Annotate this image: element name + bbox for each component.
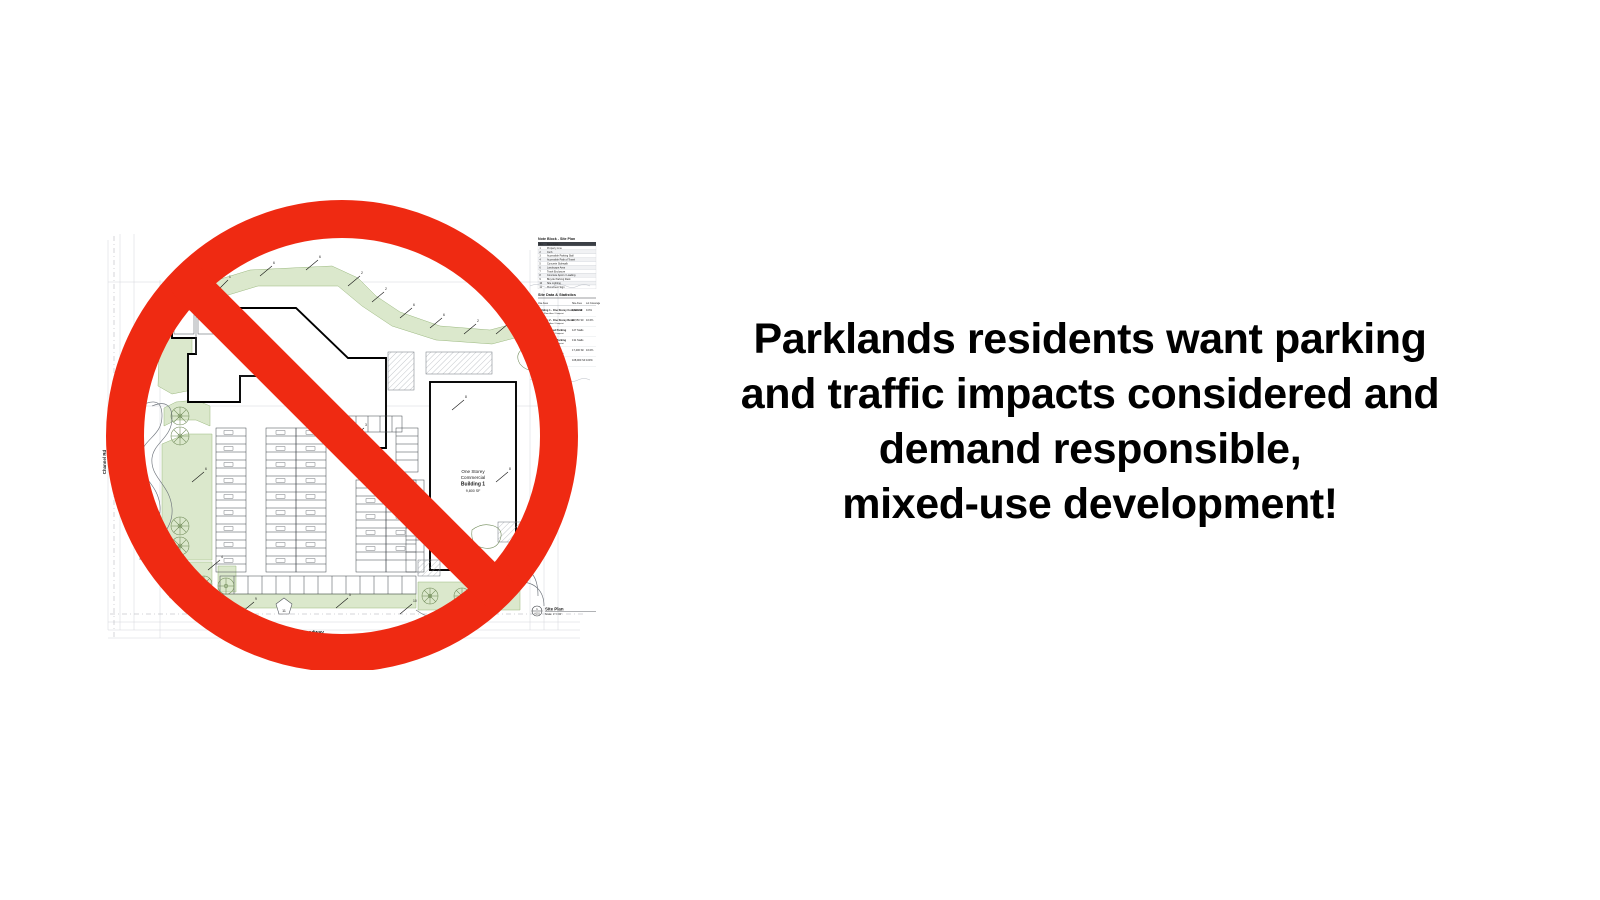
site-data-row-area: 127 Stalls	[572, 328, 584, 332]
svg-text:3: 3	[365, 423, 367, 427]
site-data-row-label: Building 2 - One Storey Retail	[538, 318, 575, 322]
site-data-row-coverage: 100%	[586, 358, 593, 362]
headline-line-3: demand responsible,	[690, 422, 1490, 477]
note-row-description: Bicycle Parking Rack	[547, 278, 571, 281]
site-data-col-0: Use Area	[538, 302, 549, 305]
headline-line-4: mixed-use development!	[690, 477, 1490, 532]
headline-line-2: and traffic impacts considered and	[690, 367, 1490, 422]
sheet-scale: Scale: 1" = 30'	[545, 612, 562, 616]
building-2-label-line-3: Building 2	[264, 367, 288, 373]
site-data-row-label: Total Required Parking	[538, 328, 567, 332]
site-data-row-coverage: 9.0%	[586, 308, 593, 312]
site-plan-drawing: One Storey Retail Building 2 11,550 SF O…	[100, 230, 600, 645]
svg-text:5: 5	[349, 593, 351, 597]
note-row-description: Trash Enclosure	[547, 270, 566, 273]
svg-text:6: 6	[413, 303, 415, 307]
svg-text:11: 11	[282, 609, 286, 613]
building-1-label-line-3: Building 1	[461, 482, 485, 488]
svg-text:6: 6	[443, 313, 445, 317]
site-data-row-note: Gross Floor Area / Footprint	[538, 332, 564, 335]
building-2-label-line-2: Retail	[270, 360, 282, 365]
site-data-row-note: Gross Floor Area / Footprint	[538, 312, 564, 315]
site-data-row-area: 108,900 SF	[572, 358, 586, 362]
svg-text:4: 4	[221, 555, 223, 559]
site-data-row-coverage: 16.0%	[586, 348, 594, 352]
note-block-title: Note Block - Site Plan	[538, 237, 575, 241]
note-row-description: Landscape Area	[547, 266, 566, 269]
sheet-ref: A101	[534, 613, 540, 616]
note-block: Note Block - Site Plan No. Description 1…	[538, 236, 596, 289]
svg-text:6: 6	[205, 467, 207, 471]
site-data-col-2: Lot Coverage	[586, 302, 600, 305]
slide-canvas: One Storey Retail Building 2 11,550 SF O…	[0, 0, 1600, 900]
note-row-description: Curb	[547, 251, 553, 254]
site-data-row-area: 9,800 SF	[572, 308, 583, 312]
svg-text:2: 2	[477, 319, 479, 323]
svg-text:2: 2	[361, 271, 363, 275]
svg-text:7: 7	[245, 325, 247, 329]
svg-text:8: 8	[509, 467, 511, 471]
site-data-row-area: 131 Stalls	[572, 338, 584, 342]
building-2-label-line-1: One Storey	[264, 354, 288, 359]
site-data-row-label: Landscape Area	[538, 348, 558, 352]
headline-text: Parklands residents want parking and tra…	[690, 312, 1490, 532]
note-row-description: Property Line	[547, 247, 562, 250]
svg-text:10: 10	[413, 599, 417, 603]
street-label-channel-rd: Channel Rd	[102, 449, 107, 474]
svg-text:6: 6	[319, 255, 321, 259]
sheet-title: Site Plan	[545, 606, 564, 611]
note-row-description: Accessible Parking Stall	[547, 255, 574, 258]
site-data-row-label: Total Provided Parking	[538, 338, 566, 342]
site-data-row-area: 17,400 SF	[572, 348, 584, 352]
svg-text:8: 8	[465, 395, 467, 399]
site-data-row-label: Total Site Area	[538, 358, 556, 362]
svg-text:1: 1	[229, 275, 231, 279]
site-data-row-area: 11,550 SF	[572, 318, 584, 322]
building-1-area: 9,800 SF	[466, 489, 481, 493]
site-data-title: Site Data & Statistics	[538, 293, 576, 297]
headline-line-1: Parklands residents want parking	[690, 312, 1490, 367]
site-data-col-1: Site Area	[572, 302, 582, 305]
site-data-row-coverage: 10.6%	[586, 318, 594, 322]
site-data-row-note: Gross Floor Area / Footprint	[538, 322, 564, 325]
site-plan-graphic-block: One Storey Retail Building 2 11,550 SF O…	[100, 200, 600, 670]
svg-text:9: 9	[255, 597, 257, 601]
note-block-col-no: No.	[539, 243, 543, 246]
note-block-col-desc: Description	[547, 243, 560, 246]
building-1-label-line-1: One Storey	[461, 469, 485, 474]
site-data-row-note: Gross Floor Area / Footprint	[538, 362, 564, 365]
note-row-description: Concrete Apron / Loading	[547, 274, 576, 277]
site-data-row-note: Gross Floor Area / Footprint	[538, 342, 564, 345]
svg-text:6: 6	[273, 261, 275, 265]
note-row-description: Accessible Path of Travel	[547, 259, 576, 262]
building-1-label-line-2: Commercial	[461, 475, 486, 480]
street-label-broadway: Broadway	[300, 630, 324, 636]
svg-text:6: 6	[509, 319, 511, 323]
site-data-row-note: Gross Floor Area / Footprint	[538, 352, 564, 355]
note-row-description: Concrete Sidewalk	[547, 263, 569, 266]
svg-text:2: 2	[385, 287, 387, 291]
building-2-area: 11,550 SF	[268, 374, 285, 378]
